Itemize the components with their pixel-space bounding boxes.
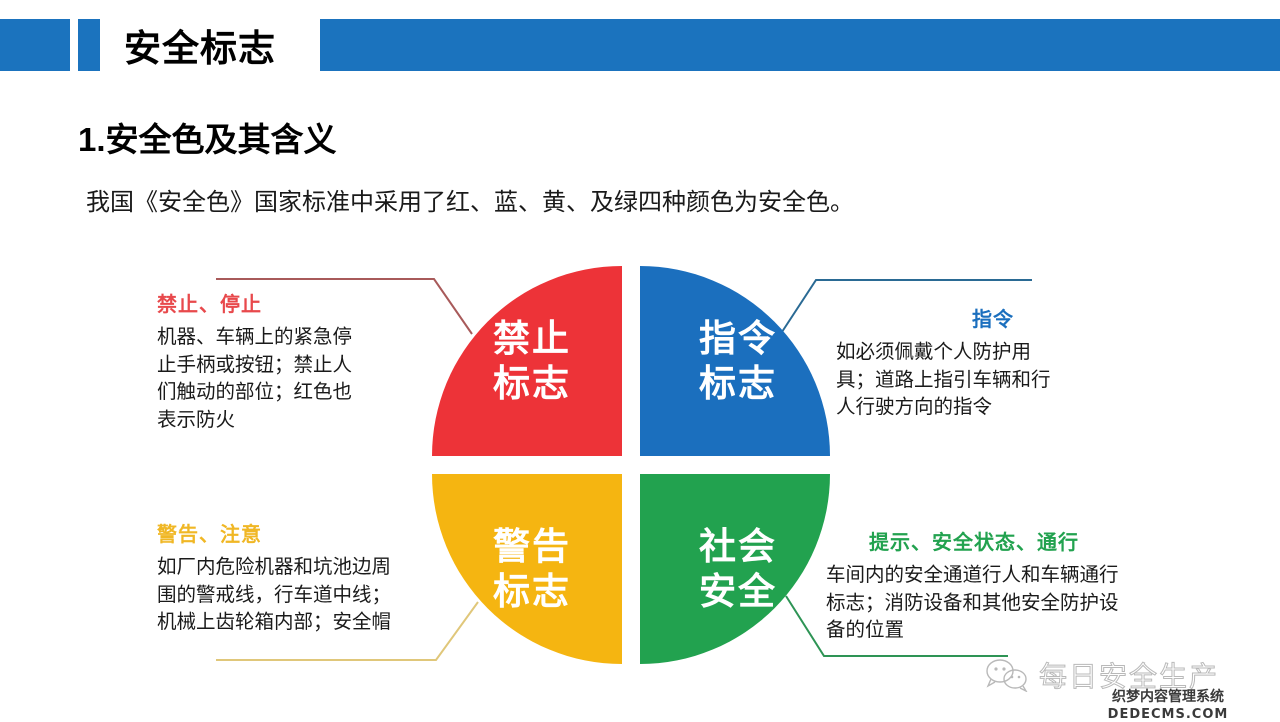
callout-mandatory: 指令 如必须佩戴个人防护用具；道路上指引车辆和行人行驶方向的指令 — [836, 303, 1064, 422]
quadrant-prohibition[interactable]: 禁止 标志 — [432, 266, 622, 456]
dedecms-watermark: 织梦内容管理系统 DEDECMS.COM — [1108, 686, 1229, 722]
quadrant-public-safety[interactable]: 社会 安全 — [640, 474, 830, 664]
header-bar-left — [0, 19, 70, 71]
quadrant-mandatory-line1: 指令 — [699, 316, 777, 361]
quadrant-public-safety-line1: 社会 — [699, 524, 777, 569]
callout-warning-body: 如厂内危险机器和坑池边周围的警戒线，行车道中线；机械上齿轮箱内部；安全帽 — [157, 554, 405, 637]
quadrant-prohibition-line2: 标志 — [493, 361, 571, 406]
page-title: 安全标志 — [124, 18, 276, 72]
callout-public-safety: 提示、安全状态、通行 车间内的安全通道行人和车辆通行标志；消防设备和其他安全防护… — [826, 526, 1134, 645]
quadrant-warning-line2: 标志 — [493, 569, 571, 614]
callout-mandatory-title: 指令 — [836, 303, 1014, 332]
section-heading: 1.安全色及其含义 — [78, 113, 337, 161]
callout-public-safety-title: 提示、安全状态、通行 — [826, 526, 1122, 555]
callout-warning-title: 警告、注意 — [157, 518, 405, 547]
callout-prohibition: 禁止、停止 机器、车辆上的紧急停止手柄或按钮；禁止人们触动的部位；红色也表示防火 — [157, 288, 369, 435]
quadrant-warning[interactable]: 警告 标志 — [432, 474, 622, 664]
callout-prohibition-title: 禁止、停止 — [157, 288, 369, 317]
section-lead-paragraph: 我国《安全色》国家标准中采用了红、蓝、黄、及绿四种颜色为安全色。 — [86, 182, 854, 217]
safety-color-wheel: 禁止 标志 指令 标志 警告 标志 社会 安全 — [432, 266, 830, 664]
callout-public-safety-body: 车间内的安全通道行人和车辆通行标志；消防设备和其他安全防护设备的位置 — [826, 562, 1134, 645]
wechat-icon — [985, 658, 1029, 692]
quadrant-warning-line1: 警告 — [493, 524, 571, 569]
callout-warning: 警告、注意 如厂内危险机器和坑池边周围的警戒线，行车道中线；机械上齿轮箱内部；安… — [157, 518, 405, 637]
quadrant-public-safety-line2: 安全 — [699, 569, 777, 614]
header-bar-accent — [78, 19, 100, 71]
quadrant-mandatory-line2: 标志 — [699, 361, 777, 406]
quadrant-mandatory[interactable]: 指令 标志 — [640, 266, 830, 456]
quadrant-prohibition-line1: 禁止 — [493, 316, 571, 361]
callout-mandatory-body: 如必须佩戴个人防护用具；道路上指引车辆和行人行驶方向的指令 — [836, 339, 1064, 422]
slide-header: 安全标志 — [0, 19, 1280, 71]
dedecms-watermark-cn: 织梦内容管理系统 — [1108, 686, 1229, 706]
header-bar-right — [320, 19, 1280, 71]
callout-prohibition-body: 机器、车辆上的紧急停止手柄或按钮；禁止人们触动的部位；红色也表示防火 — [157, 324, 369, 435]
